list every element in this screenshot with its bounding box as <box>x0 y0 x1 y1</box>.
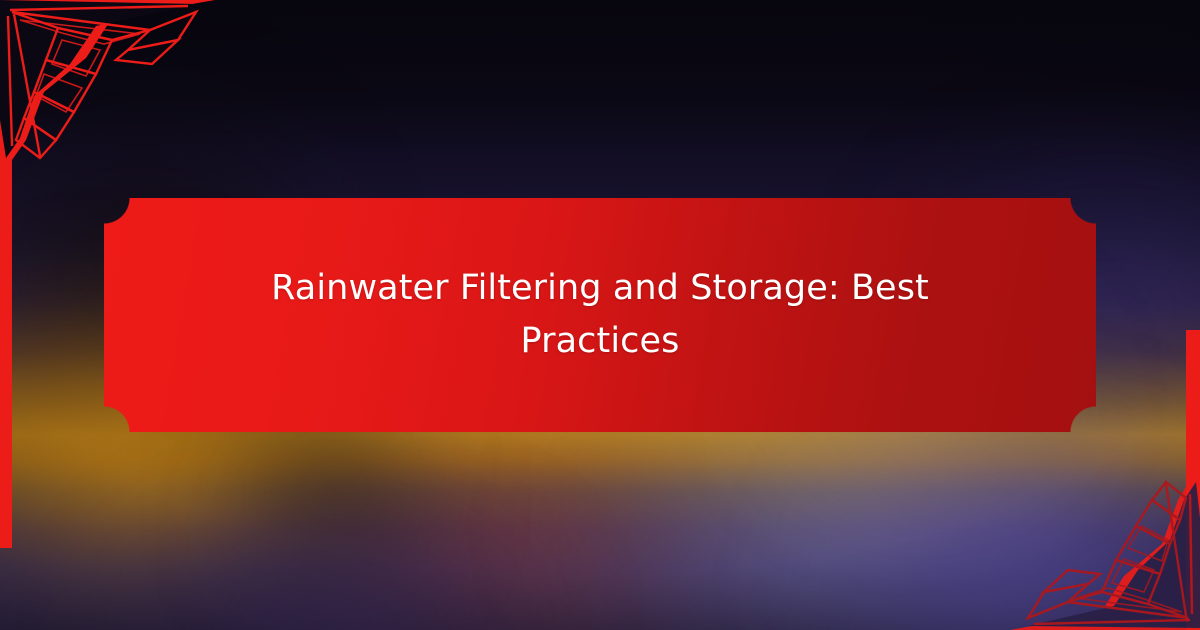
share-card: Rainwater Filtering and Storage: Best Pr… <box>0 0 1200 630</box>
page-title: Rainwater Filtering and Storage: Best Pr… <box>260 262 940 368</box>
title-banner: Rainwater Filtering and Storage: Best Pr… <box>104 198 1096 432</box>
corner-ornament-top-left-icon <box>0 0 215 160</box>
left-accent-rail <box>0 96 12 548</box>
corner-ornament-bottom-right-icon <box>1010 480 1200 630</box>
